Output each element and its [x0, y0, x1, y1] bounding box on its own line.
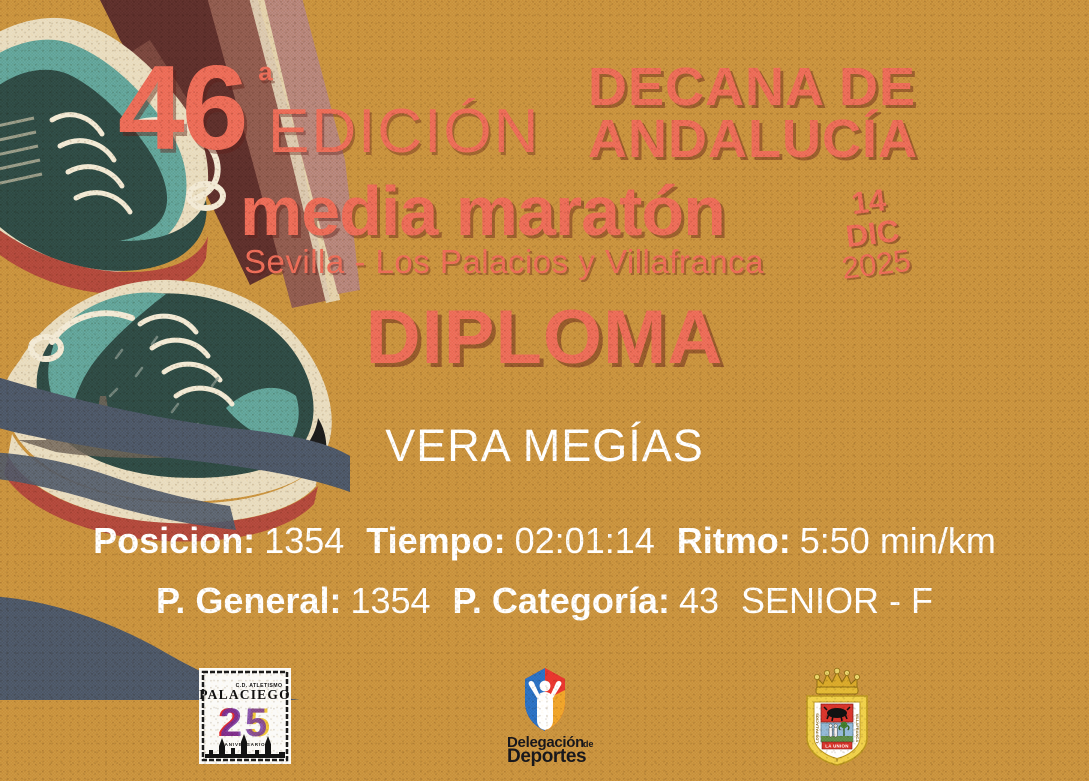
stat-label-p-categoria: P. Categoría:: [453, 580, 670, 621]
svg-text:2: 2: [220, 701, 242, 745]
logo-deportes-line2: Deportes: [507, 746, 586, 766]
escudo-los-palacios-y-villafranca: LA UNION LOS PALACIOS VILLAFRANCA Y: [795, 666, 879, 773]
event-date: 14 DIC 2025: [832, 182, 912, 285]
escudo-right-text: VILLAFRANCA: [855, 714, 860, 743]
stat-value-ritmo: 5:50 min/km: [800, 520, 996, 561]
stat-value-p-categoria: 43: [679, 580, 719, 621]
tagline-line-2: ANDALUCÍA: [588, 114, 918, 166]
stats-row-1: Posicion:1354Tiempo:02:01:14Ritmo:5:50 m…: [0, 523, 1089, 559]
edition-ordinal: ª: [258, 62, 273, 102]
stat-value-p-general: 1354: [350, 580, 430, 621]
stat-label-p-general: P. General:: [156, 580, 341, 621]
tagline-line-1: DECANA DE: [588, 62, 918, 114]
stat-label-tiempo: Tiempo:: [366, 520, 505, 561]
svg-text:5: 5: [245, 701, 267, 745]
cd-atletismo-palaciego-25-aniversario-logo: C.D. ATLETISMO PALACIEGO 2 2 5 5 ANIVERS…: [199, 668, 291, 769]
stats-row-2: P. General:1354P. Categoría:43SENIOR - F: [0, 583, 1089, 619]
sponsor-logos: C.D. ATLETISMO PALACIEGO 2 2 5 5 ANIVERS…: [0, 663, 1089, 773]
stat-label-posicion: Posicion:: [93, 520, 255, 561]
edition-number: 46: [118, 48, 245, 168]
diploma-canvas: 46 ª EDICIÓN DECANA DE ANDALUCÍA media m…: [0, 0, 1089, 781]
stat-value-tiempo: 02:01:14: [515, 520, 655, 561]
event-date-year: 2025: [840, 245, 912, 286]
escudo-left-text: LOS PALACIOS: [815, 713, 820, 743]
stat-value-posicion: 1354: [264, 520, 344, 561]
event-location: Sevilla - Los Palacios y Villafranca: [244, 245, 764, 278]
tagline: DECANA DE ANDALUCÍA: [588, 62, 918, 166]
edition-word: EDICIÓN: [268, 101, 540, 163]
delegacion-de-deportes-logo: Delegación de Deportes Ayuntamiento de L…: [487, 666, 603, 771]
stat-value-categoria-name: SENIOR - F: [741, 580, 933, 621]
escudo-bottom-text: Y: [836, 758, 839, 763]
escudo-center-text: LA UNION: [825, 744, 848, 749]
event-name: media maratón: [240, 176, 725, 246]
svg-text:PALACIEGO: PALACIEGO: [199, 687, 291, 702]
runner-name: VERA MEGÍAS: [0, 423, 1089, 468]
certificate-title: DIPLOMA: [0, 300, 1089, 376]
stat-label-ritmo: Ritmo:: [677, 520, 791, 561]
